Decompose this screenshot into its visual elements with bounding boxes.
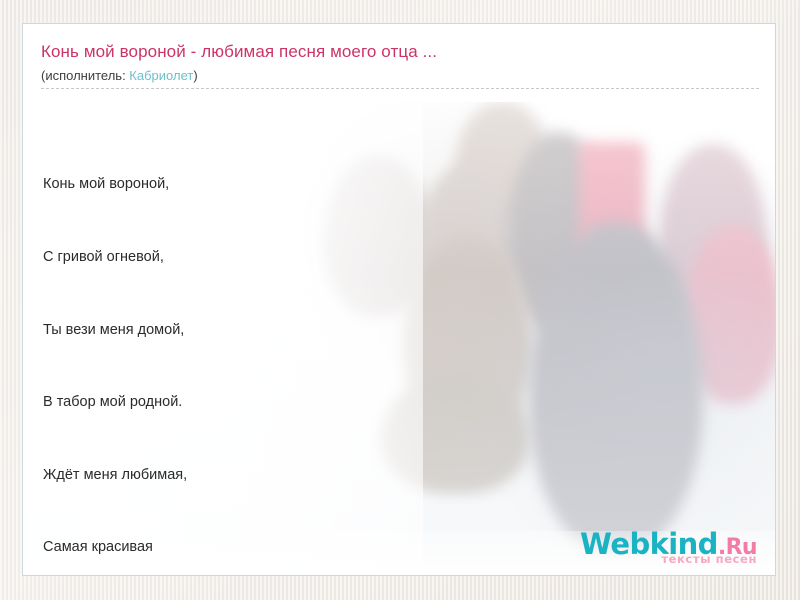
- lyric-line: С гривой огневой,: [43, 245, 755, 269]
- lyrics-card: Конь мой вороной - любимая песня моего о…: [22, 23, 776, 576]
- header-divider: [41, 88, 759, 89]
- song-header: Конь мой вороной - любимая песня моего о…: [41, 42, 759, 89]
- lyric-line: Конь мой вороной,: [43, 172, 755, 196]
- lyrics-body: Конь мой вороной, С гривой огневой, Ты в…: [43, 124, 755, 576]
- page-frame: Конь мой вороной - любимая песня моего о…: [0, 0, 800, 600]
- artist-prefix-label: (исполнитель:: [41, 68, 129, 83]
- lyric-line: В табор мой родной.: [43, 390, 755, 414]
- lyric-line: Ждёт меня любимая,: [43, 463, 755, 487]
- artist-suffix-label: ): [193, 68, 197, 83]
- artist-link[interactable]: Кабриолет: [129, 68, 193, 83]
- lyric-line: Ты вези меня домой,: [43, 318, 755, 342]
- page-title: Конь мой вороной - любимая песня моего о…: [41, 42, 759, 62]
- artist-line: (исполнитель: Кабриолет): [41, 68, 759, 83]
- site-logo[interactable]: Webkind.Ru тексты песен: [580, 530, 757, 566]
